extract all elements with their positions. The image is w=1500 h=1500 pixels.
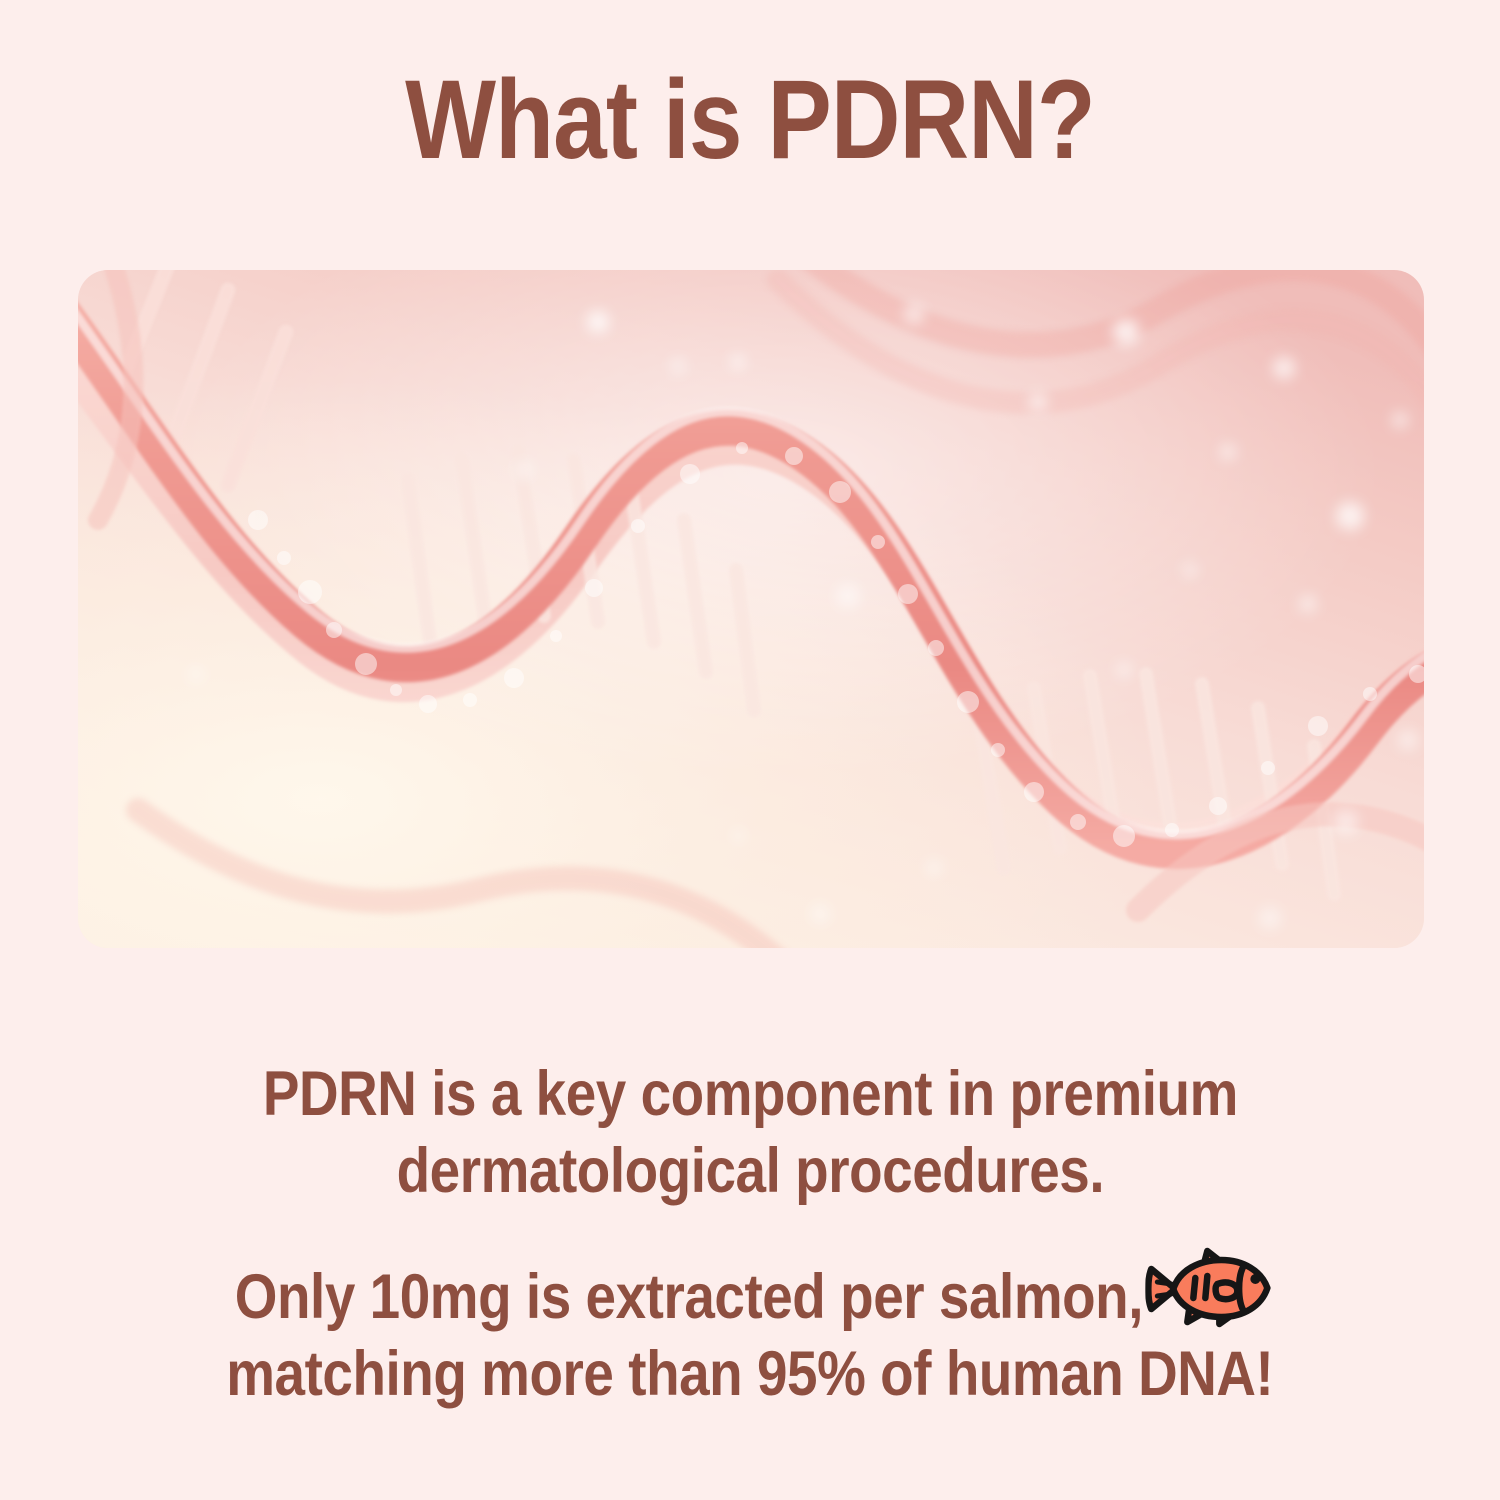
hero-image-card (78, 270, 1424, 948)
body-paragraph-2: Only 10mg is extracted per salmon, (0, 1246, 1500, 1413)
page-root: What is PDRN? (0, 0, 1500, 1500)
paragraph-2-line-1: Only 10mg is extracted per salmon, (235, 1262, 1143, 1332)
page-title: What is PDRN? (105, 60, 1395, 181)
salmon-fish-icon (1145, 1246, 1273, 1332)
paragraph-1-line-1: PDRN is a key component in premium (262, 1056, 1237, 1133)
dna-double-helix-image (78, 270, 1424, 948)
paragraph-2-line-1-wrap: Only 10mg is extracted per salmon, (226, 1246, 1273, 1336)
paragraph-1-line-2: dermatological procedures. (262, 1133, 1237, 1210)
paragraph-2-line-2: matching more than 95% of human DNA! (226, 1336, 1273, 1413)
fish-eye-icon (1250, 1274, 1260, 1284)
body-paragraph-1: PDRN is a key component in premium derma… (0, 1056, 1500, 1210)
